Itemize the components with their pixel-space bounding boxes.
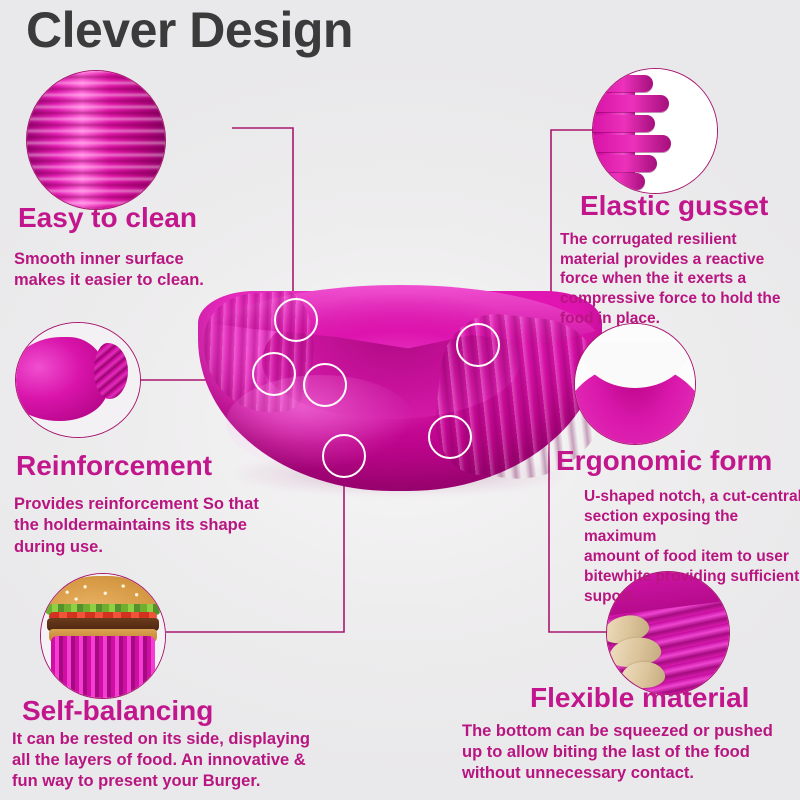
corrugated-ribs-closeup-icon <box>27 71 165 209</box>
body-line: up to allow biting the last of the food <box>462 742 800 763</box>
body-line: suport. <box>584 587 800 607</box>
body-reinforcement: Provides reinforcement So that the holde… <box>14 494 324 558</box>
heading-ergonomic-form: Ergonomic form <box>556 447 772 476</box>
body-elastic-gusset: The corrugated resilient material provid… <box>560 230 800 328</box>
marker-self-balancing[interactable] <box>322 434 366 478</box>
callout-image-elastic-gusset[interactable] <box>592 68 718 194</box>
callout-image-ergonomic-form[interactable] <box>574 323 696 445</box>
body-line: force when the it exerts a <box>560 269 800 289</box>
body-line: fun way to present your Burger. <box>12 771 362 792</box>
body-line: It can be rested on its side, displaying <box>12 729 362 750</box>
heading-easy-to-clean: Easy to clean <box>18 204 197 233</box>
body-line: the holdermaintains its shape <box>14 515 324 536</box>
heading-reinforcement: Reinforcement <box>16 452 212 481</box>
heading-self-balancing: Self-balancing <box>22 697 213 726</box>
body-flexible-material: The bottom can be squeezed or pushed up … <box>462 721 800 783</box>
body-easy-to-clean: Smooth inner surface makes it easier to … <box>14 249 304 292</box>
body-line: Smooth inner surface <box>14 249 304 270</box>
body-line: section exposing the maximum <box>584 507 800 547</box>
product-image <box>190 265 610 505</box>
marker-reinforcement[interactable] <box>252 352 296 396</box>
body-line: food in place. <box>560 309 800 329</box>
body-line: The bottom can be squeezed or pushed <box>462 721 800 742</box>
body-line: Provides reinforcement So that <box>14 494 324 515</box>
body-self-balancing: It can be rested on its side, displaying… <box>12 729 362 791</box>
heading-elastic-gusset: Elastic gusset <box>580 192 768 221</box>
marker-flexible-material[interactable] <box>428 415 472 459</box>
body-line: makes it easier to clean. <box>14 270 304 291</box>
burger-in-holder-closeup-icon <box>41 574 165 698</box>
body-line: all the layers of food. An innovative & <box>12 750 362 771</box>
body-line: without unnecessary contact. <box>462 763 800 784</box>
heading-flexible-material: Flexible material <box>530 684 749 713</box>
marker-ergonomic-form[interactable] <box>303 363 347 407</box>
callout-image-easy-to-clean[interactable] <box>26 70 166 210</box>
body-line: during use. <box>14 537 324 558</box>
u-notch-closeup-icon <box>575 324 695 444</box>
body-line: The corrugated resilient <box>560 230 800 250</box>
body-ergonomic-form: U-shaped notch, a cut-central section ex… <box>584 487 800 607</box>
body-line: material provides a reactive <box>560 250 800 270</box>
callout-image-reinforcement[interactable] <box>15 322 141 438</box>
callout-image-self-balancing[interactable] <box>40 573 166 699</box>
infographic-canvas: Clever Design <box>0 0 800 800</box>
body-line: amount of food item to user <box>584 547 800 567</box>
marker-easy-to-clean[interactable] <box>274 298 318 342</box>
body-line: compressive force to hold the <box>560 289 800 309</box>
reinforced-edge-closeup-icon <box>16 323 140 437</box>
gusset-pleats-closeup-icon <box>593 69 717 193</box>
marker-elastic-gusset[interactable] <box>456 323 500 367</box>
body-line: bitewhite providing sufficient <box>584 567 800 587</box>
body-line: U-shaped notch, a cut-central <box>584 487 800 507</box>
